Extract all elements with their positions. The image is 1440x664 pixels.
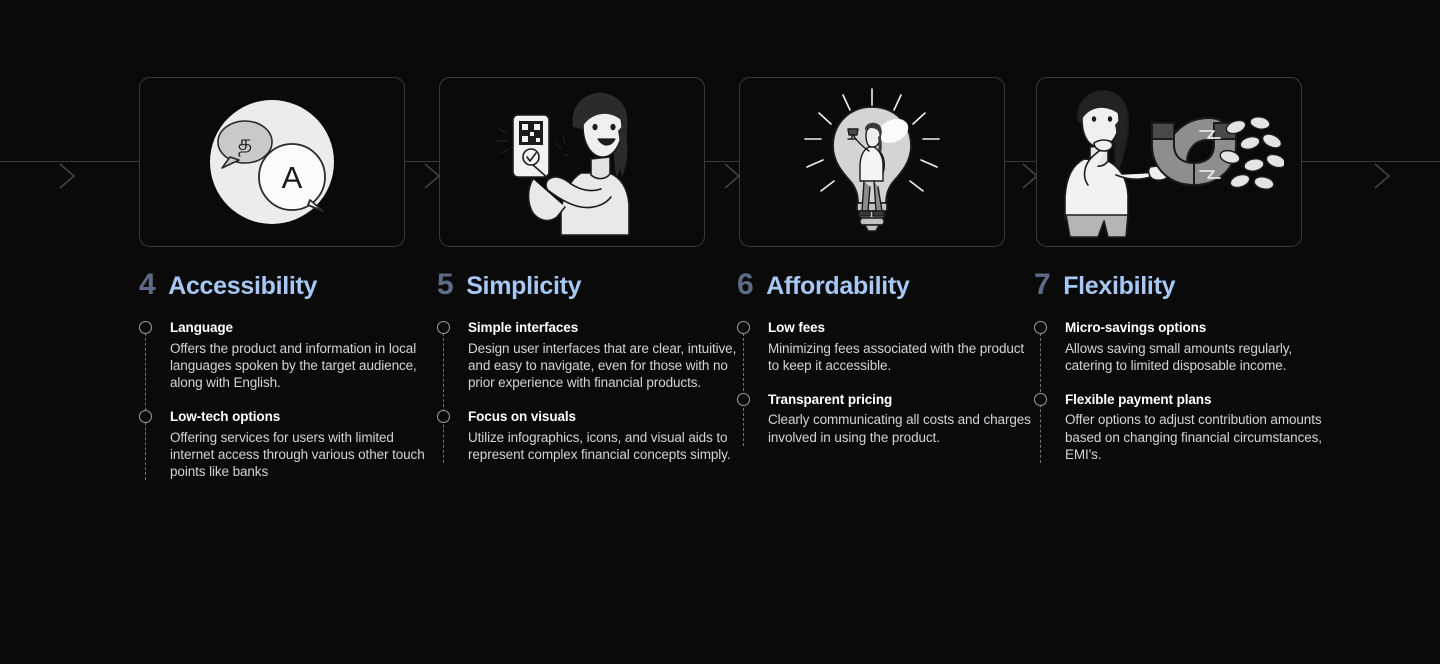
list-item[interactable]: Focus on visuals Utilize infographics, i… <box>468 408 737 463</box>
column-flexibility: 7 Flexibility Micro-savings options Allo… <box>1034 270 1334 463</box>
column-title: Simplicity <box>466 274 581 299</box>
item-body: Allows saving small amounts regularly, c… <box>1065 340 1334 374</box>
item-body: Offering services for users with limited… <box>170 429 439 480</box>
item-body: Utilize infographics, icons, and visual … <box>468 429 737 463</box>
item-list: Low fees Minimizing fees associated with… <box>737 319 1037 446</box>
illustration-card-flexibility <box>1036 77 1302 247</box>
column-header: 4 Accessibility <box>139 270 439 300</box>
dashed-connector <box>443 328 444 463</box>
item-body: Offer options to adjust contribution amo… <box>1065 411 1334 462</box>
list-item[interactable]: Low fees Minimizing fees associated with… <box>768 319 1037 374</box>
item-list: Language Offers the product and informat… <box>139 319 439 480</box>
column-simplicity: 5 Simplicity Simple interfaces Design us… <box>437 270 737 463</box>
item-title: Low fees <box>768 319 1037 337</box>
item-title: Transparent pricing <box>768 391 1037 409</box>
bullet-circle-icon <box>139 410 152 423</box>
item-title: Flexible payment plans <box>1065 391 1334 409</box>
item-body: Minimizing fees associated with the prod… <box>768 340 1037 374</box>
dashed-connector <box>145 328 146 480</box>
list-item[interactable]: Language Offers the product and informat… <box>170 319 439 391</box>
column-title: Affordability <box>766 274 909 299</box>
item-list: Micro-savings options Allows saving smal… <box>1034 319 1334 463</box>
list-item[interactable]: Micro-savings options Allows saving smal… <box>1065 319 1334 374</box>
column-accessibility: 4 Accessibility Language Offers the prod… <box>139 270 439 480</box>
item-title: Micro-savings options <box>1065 319 1334 337</box>
bullet-circle-icon <box>737 393 750 406</box>
column-header: 7 Flexibility <box>1034 270 1334 300</box>
column-header: 6 Affordability <box>737 270 1037 300</box>
column-number: 5 <box>437 270 453 300</box>
bullet-circle-icon <box>139 321 152 334</box>
bullet-circle-icon <box>1034 321 1047 334</box>
item-title: Low-tech options <box>170 408 439 426</box>
woman-phone-qr-code-icon <box>477 85 667 240</box>
column-header: 5 Simplicity <box>437 270 737 300</box>
lightbulb-person-idea-icon <box>777 83 967 241</box>
bullet-circle-icon <box>437 321 450 334</box>
illustration-card-accessibility: த A <box>139 77 405 247</box>
item-body: Design user interfaces that are clear, i… <box>468 340 737 391</box>
tamil-letter: த <box>238 131 252 157</box>
list-item[interactable]: Simple interfaces Design user interfaces… <box>468 319 737 391</box>
item-title: Language <box>170 319 439 337</box>
list-item[interactable]: Low-tech options Offering services for u… <box>170 408 439 480</box>
infographic-canvas: த A <box>0 0 1440 664</box>
item-title: Simple interfaces <box>468 319 737 337</box>
column-title: Accessibility <box>168 274 317 299</box>
column-number: 4 <box>139 270 155 300</box>
illustration-card-simplicity <box>439 77 705 247</box>
column-title: Flexibility <box>1063 274 1175 299</box>
item-title: Focus on visuals <box>468 408 737 426</box>
column-affordability: 6 Affordability Low fees Minimizing fees… <box>737 270 1037 446</box>
dashed-connector <box>743 328 744 446</box>
illustration-card-affordability <box>739 77 1005 247</box>
speech-bubbles-language-icon: த A <box>182 87 362 237</box>
item-list: Simple interfaces Design user interfaces… <box>437 319 737 463</box>
column-number: 6 <box>737 270 753 300</box>
list-item[interactable]: Flexible payment plans Offer options to … <box>1065 391 1334 463</box>
bullet-circle-icon <box>737 321 750 334</box>
column-number: 7 <box>1034 270 1050 300</box>
bullet-circle-icon <box>437 410 450 423</box>
latin-letter: A <box>282 160 303 195</box>
item-body: Clearly communicating all costs and char… <box>768 411 1037 445</box>
woman-magnet-coins-icon <box>1054 85 1284 240</box>
bullet-circle-icon <box>1034 393 1047 406</box>
list-item[interactable]: Transparent pricing Clearly communicatin… <box>768 391 1037 446</box>
item-body: Offers the product and information in lo… <box>170 340 439 391</box>
